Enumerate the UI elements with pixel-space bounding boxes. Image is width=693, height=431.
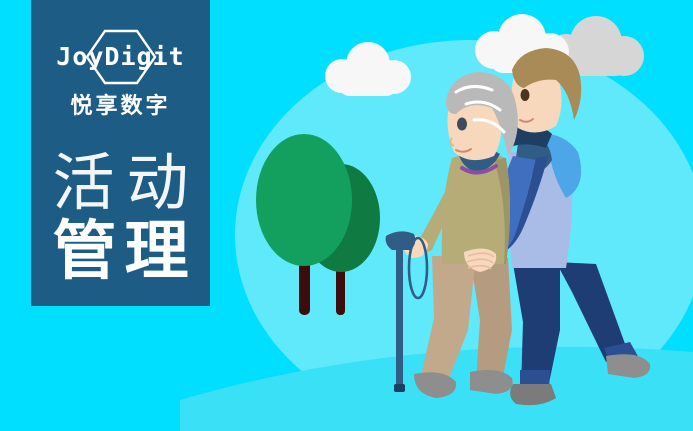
poster-canvas: JoyDigit 悦享数字 活动 管理 (0, 0, 693, 431)
elder-hand-right (464, 248, 496, 272)
man-eye (521, 89, 530, 101)
cane-shaft (396, 248, 403, 390)
page-title-line-2: 管理 (53, 219, 197, 286)
cane-tip (394, 384, 405, 392)
page-title-line-1: 活动 (52, 150, 200, 215)
logo-sub-brand: 悦享数字 (70, 88, 170, 120)
elder-eye (457, 118, 467, 131)
logo-wordmark: JoyDigit (46, 38, 196, 76)
brand-panel: JoyDigit 悦享数字 活动 管理 (31, 0, 210, 306)
logo-lockup: JoyDigit (46, 28, 196, 86)
